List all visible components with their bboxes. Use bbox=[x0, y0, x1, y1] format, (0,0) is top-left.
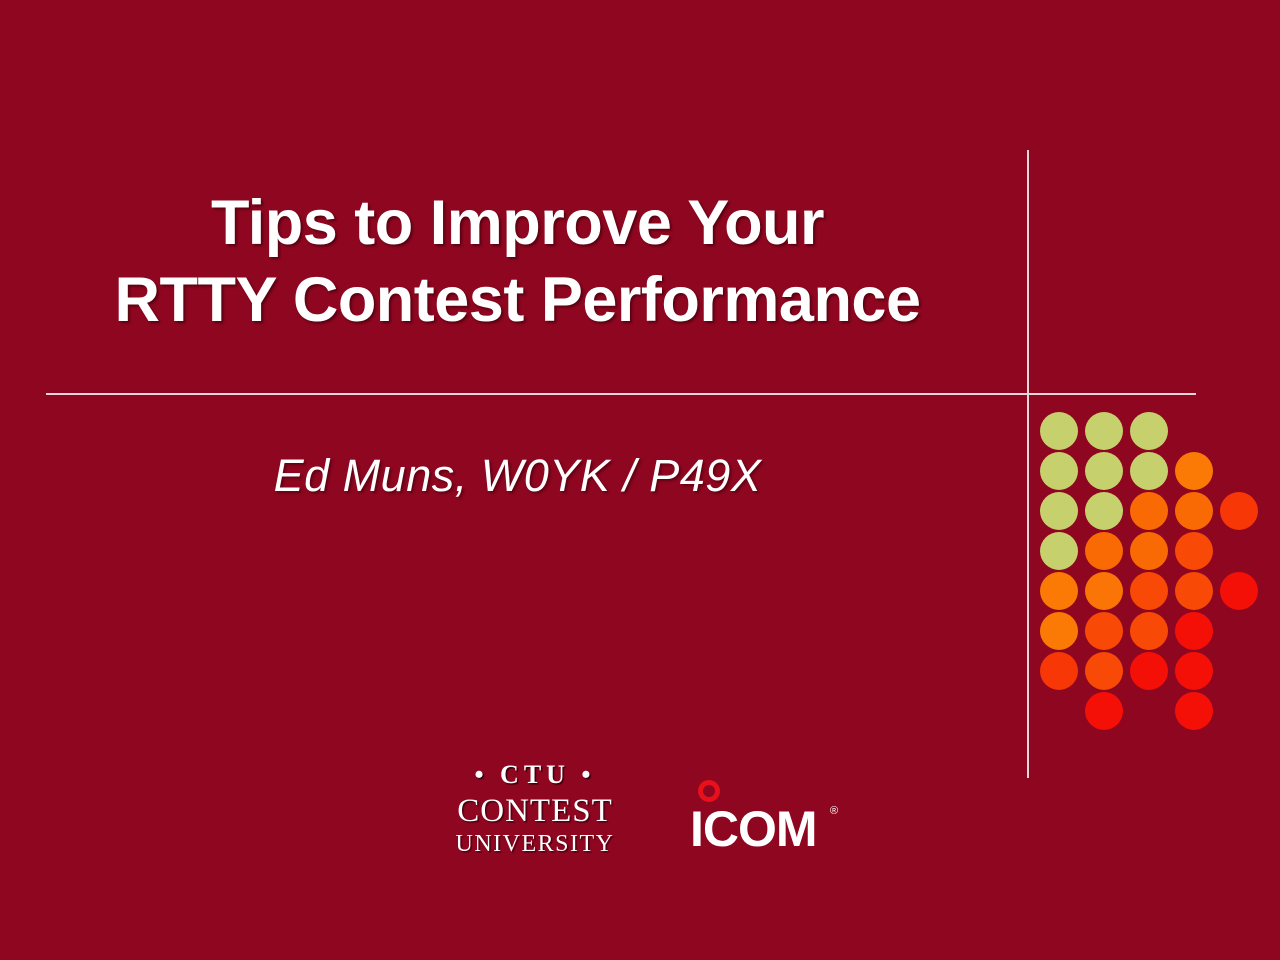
ctu-logo: • CTU • CONTEST UNIVERSITY bbox=[435, 762, 635, 857]
matrix-dot bbox=[1175, 452, 1213, 490]
matrix-dot bbox=[1130, 412, 1168, 450]
horizontal-divider-rule bbox=[46, 393, 1196, 395]
matrix-dot bbox=[1130, 652, 1168, 690]
icom-wordmark: ICOM bbox=[690, 804, 817, 854]
matrix-dot bbox=[1130, 612, 1168, 650]
ctu-logo-university-text: UNIVERSITY bbox=[435, 831, 635, 857]
page-title: Tips to Improve Your RTTY Contest Perfor… bbox=[40, 185, 995, 339]
matrix-dot bbox=[1085, 532, 1123, 570]
decorative-dot-matrix bbox=[1040, 412, 1250, 727]
title-line-1: Tips to Improve Your bbox=[40, 185, 995, 262]
matrix-dot bbox=[1130, 492, 1168, 530]
icom-logo: ICOM ® bbox=[690, 780, 860, 860]
matrix-dot bbox=[1040, 452, 1078, 490]
matrix-dot bbox=[1040, 412, 1078, 450]
matrix-dot bbox=[1085, 492, 1123, 530]
icom-ring-icon bbox=[698, 780, 720, 802]
matrix-dot bbox=[1130, 532, 1168, 570]
matrix-dot bbox=[1085, 572, 1123, 610]
matrix-dot bbox=[1220, 572, 1258, 610]
vertical-divider-rule bbox=[1027, 150, 1029, 778]
title-line-2: RTTY Contest Performance bbox=[40, 262, 995, 339]
presentation-slide: Tips to Improve Your RTTY Contest Perfor… bbox=[0, 0, 1280, 960]
matrix-dot bbox=[1085, 412, 1123, 450]
presenter-subtitle: Ed Muns, W0YK / P49X bbox=[40, 450, 995, 502]
matrix-dot bbox=[1130, 452, 1168, 490]
matrix-dot bbox=[1175, 652, 1213, 690]
matrix-dot bbox=[1175, 532, 1213, 570]
subtitle-block: Ed Muns, W0YK / P49X bbox=[40, 450, 995, 502]
matrix-dot bbox=[1085, 612, 1123, 650]
matrix-dot bbox=[1175, 492, 1213, 530]
matrix-dot bbox=[1040, 532, 1078, 570]
matrix-dot bbox=[1040, 612, 1078, 650]
icom-trademark-mark: ® bbox=[830, 806, 838, 817]
ctu-logo-top-text: • CTU • bbox=[435, 762, 635, 788]
matrix-dot bbox=[1175, 692, 1213, 730]
matrix-dot bbox=[1175, 612, 1213, 650]
matrix-dot bbox=[1085, 652, 1123, 690]
matrix-dot bbox=[1130, 572, 1168, 610]
matrix-dot bbox=[1085, 452, 1123, 490]
matrix-dot bbox=[1040, 492, 1078, 530]
matrix-dot bbox=[1220, 492, 1258, 530]
matrix-dot bbox=[1175, 572, 1213, 610]
matrix-dot bbox=[1040, 572, 1078, 610]
ctu-logo-contest-text: CONTEST bbox=[435, 793, 635, 830]
matrix-dot bbox=[1085, 692, 1123, 730]
matrix-dot bbox=[1040, 652, 1078, 690]
